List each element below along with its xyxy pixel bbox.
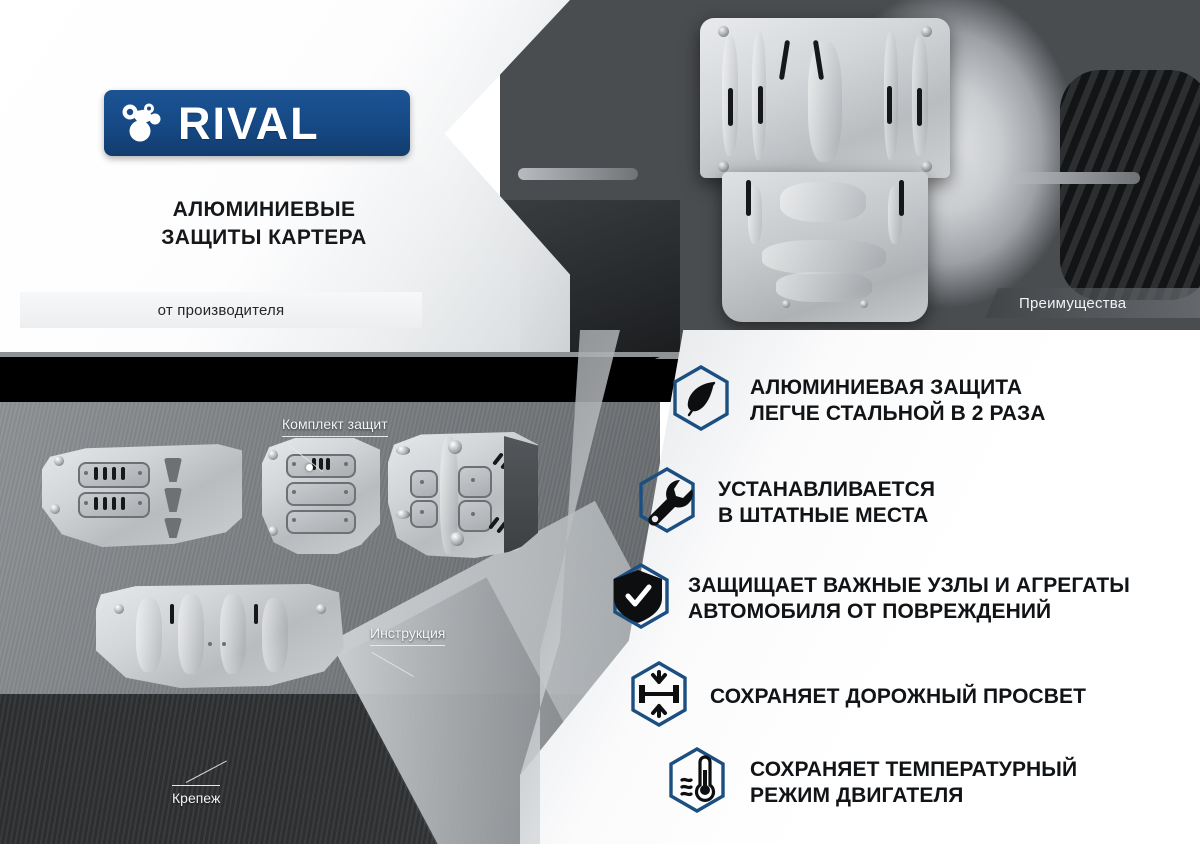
skid-plate-4: [96, 584, 344, 688]
skid-plate-lower: [722, 172, 928, 322]
feature-text: ЗАЩИЩАЕТ ВАЖНЫЕ УЗЛЫ И АГРЕГАТЫ АВТОМОБИ…: [688, 573, 1130, 623]
features-list: АЛЮМИНИЕВАЯ ЗАЩИТА ЛЕГЧЕ СТАЛЬНОЙ В 2 РА…: [612, 360, 1192, 830]
feather-icon: [670, 364, 732, 437]
callout-instruction: Инструкция: [370, 625, 445, 646]
feature-item-ground-clearance: СОХРАНЯЕТ ДОРОЖНЫЙ ПРОСВЕТ: [628, 660, 1086, 733]
advantages-tag: Преимущества: [985, 288, 1200, 318]
brand-logo: RIVAL: [104, 90, 410, 156]
suspension-arm-left: [518, 168, 638, 180]
callout-kit-dot: [306, 464, 313, 471]
tire: [1060, 70, 1200, 300]
suspension-arm-right: [1010, 172, 1140, 184]
thermometer-icon: [666, 746, 728, 819]
feature-line-1: СОХРАНЯЕТ ДОРОЖНЫЙ ПРОСВЕТ: [710, 684, 1086, 709]
skid-plate-3: [388, 432, 538, 558]
feature-text: СОХРАНЯЕТ ТЕМПЕРАТУРНЫЙ РЕЖИМ ДВИГАТЕЛЯ: [750, 757, 1077, 807]
page-title: АЛЮМИНИЕВЫЕ ЗАЩИТЫ КАРТЕРА: [104, 196, 424, 251]
subtitle-label: от производителя: [158, 302, 285, 319]
feature-item-fits-factory-points: УСТАНАВЛИВАЕТСЯ В ШТАТНЫЕ МЕСТА: [636, 466, 935, 539]
subtitle-strip: от производителя: [20, 292, 422, 328]
feature-item-protects-components: ЗАЩИЩАЕТ ВАЖНЫЕ УЗЛЫ И АГРЕГАТЫ АВТОМОБИ…: [610, 562, 1130, 635]
advantages-tag-label: Преимущества: [1019, 295, 1126, 312]
feature-line-1: УСТАНАВЛИВАЕТСЯ: [718, 477, 935, 502]
feature-item-aluminum-light: АЛЮМИНИЕВАЯ ЗАЩИТА ЛЕГЧЕ СТАЛЬНОЙ В 2 РА…: [670, 364, 1046, 437]
feature-line-2: В ШТАТНЫЕ МЕСТА: [718, 503, 935, 528]
poster-root: Преимущества RIVAL А: [0, 0, 1200, 848]
feature-text: СОХРАНЯЕТ ДОРОЖНЫЙ ПРОСВЕТ: [710, 684, 1086, 709]
feature-line-2: РЕЖИМ ДВИГАТЕЛЯ: [750, 783, 1077, 808]
callout-fasteners: Крепеж: [172, 785, 220, 806]
divider-band-wedge: [0, 352, 660, 402]
feature-line-2: ЛЕГЧЕ СТАЛЬНОЙ В 2 РАЗА: [750, 401, 1046, 426]
feature-text: УСТАНАВЛИВАЕТСЯ В ШТАТНЫЕ МЕСТА: [718, 477, 935, 527]
molecule-icon: [118, 99, 174, 147]
skid-plate-upper: [700, 18, 950, 178]
wrench-icon: [636, 466, 698, 539]
feature-item-engine-temperature: СОХРАНЯЕТ ТЕМПЕРАТУРНЫЙ РЕЖИМ ДВИГАТЕЛЯ: [666, 746, 1077, 819]
skid-plate-2: [262, 438, 380, 554]
headline-line-1: АЛЮМИНИЕВЫЕ: [104, 196, 424, 224]
feature-line-1: ЗАЩИЩАЕТ ВАЖНЫЕ УЗЛЫ И АГРЕГАТЫ: [688, 573, 1130, 598]
callout-kit: Комплект защит: [282, 416, 388, 437]
bottom-edge: [0, 844, 1200, 848]
brand-wordmark: RIVAL: [178, 101, 320, 146]
ground-clearance-icon: [628, 660, 690, 733]
headline-line-2: ЗАЩИТЫ КАРТЕРА: [104, 224, 424, 252]
shield-check-icon: [610, 562, 672, 635]
feature-line-2: АВТОМОБИЛЯ ОТ ПОВРЕЖДЕНИЙ: [688, 599, 1130, 624]
skid-plate-1: [42, 442, 242, 547]
feature-line-1: АЛЮМИНИЕВАЯ ЗАЩИТА: [750, 375, 1046, 400]
feature-text: АЛЮМИНИЕВАЯ ЗАЩИТА ЛЕГЧЕ СТАЛЬНОЙ В 2 РА…: [750, 375, 1046, 425]
feature-line-1: СОХРАНЯЕТ ТЕМПЕРАТУРНЫЙ: [750, 757, 1077, 782]
